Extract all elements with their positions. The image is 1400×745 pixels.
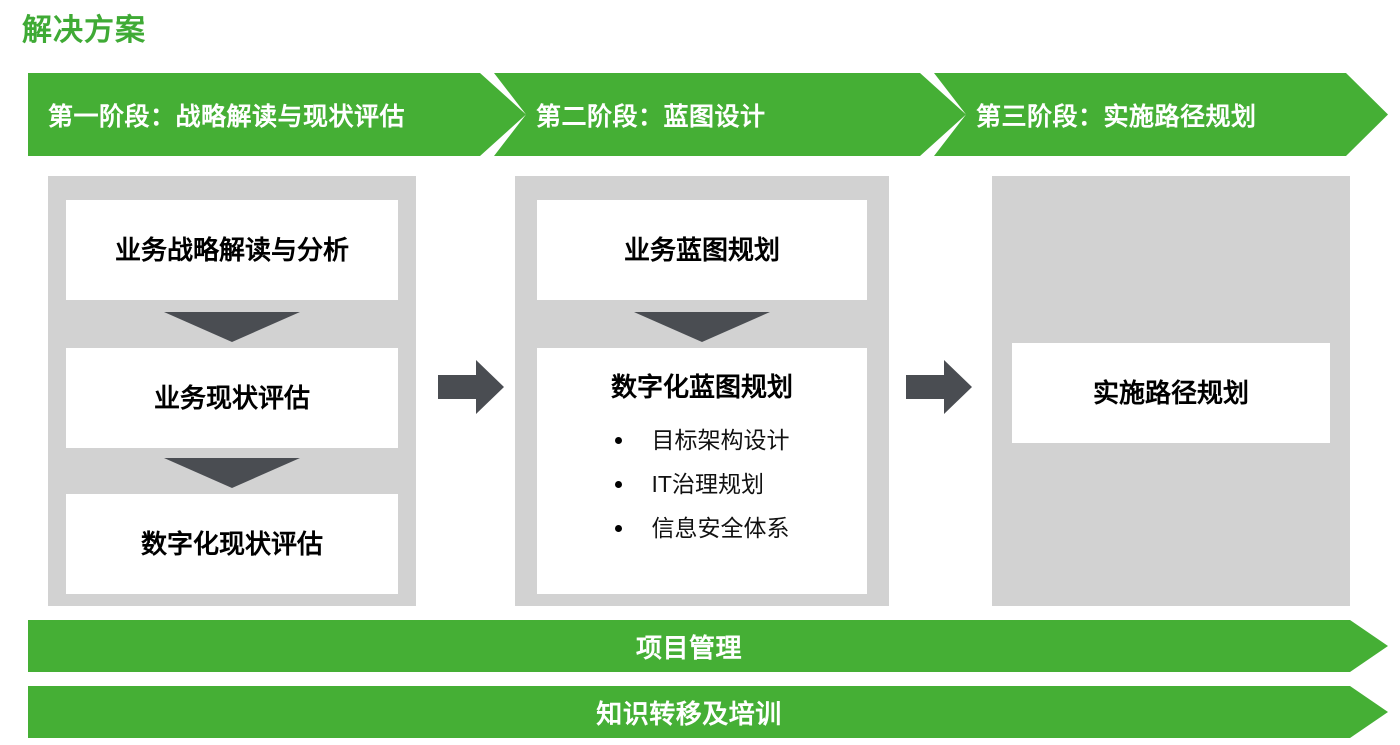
arrow-down-2-icon (164, 458, 300, 488)
phase-3-panel: 实施路径规划 (992, 176, 1350, 606)
node-box-implementation-roadmap[interactable]: 实施路径规划 (1012, 343, 1330, 443)
list-item[interactable]: IT治理规划 (615, 462, 790, 506)
node-box-business-assessment[interactable]: 业务现状评估 (66, 348, 398, 448)
list-item-label: 信息安全体系 (652, 506, 790, 550)
node-title: 业务蓝图规划 (624, 233, 780, 267)
node-title: 数字化现状评估 (141, 527, 323, 561)
phase-1-panel: 业务战略解读与分析 业务现状评估 数字化现状评估 (48, 176, 416, 606)
node-title: 业务现状评估 (154, 381, 310, 415)
phase-2-panel: 业务蓝图规划 数字化蓝图规划 目标架构设计 IT治理规划 信息安全体系 (515, 176, 889, 606)
phase-band: 第一阶段：战略解读与现状评估 第二阶段：蓝图设计 第三阶段：实施路径规划 (28, 73, 1388, 156)
bottom-bar-label: 知识转移及培训 (596, 694, 782, 731)
list-item[interactable]: 目标架构设计 (615, 418, 790, 462)
node-box-digital-assessment[interactable]: 数字化现状评估 (66, 494, 398, 594)
flow-arrow-1-icon (438, 358, 504, 416)
node-box-business-strategy[interactable]: 业务战略解读与分析 (66, 200, 398, 300)
list-item[interactable]: 信息安全体系 (615, 506, 790, 550)
bottom-bar-label: 项目管理 (636, 628, 742, 665)
node-title: 业务战略解读与分析 (115, 233, 349, 267)
phase-chevron-3[interactable]: 第三阶段：实施路径规划 (948, 73, 1388, 156)
list-item-label: 目标架构设计 (652, 418, 790, 462)
flow-arrow-2-icon (906, 358, 972, 416)
list-item-label: IT治理规划 (652, 462, 764, 506)
bullet-dot-icon (615, 525, 622, 532)
phase-label-3: 第三阶段：实施路径规划 (976, 97, 1257, 133)
bullet-dot-icon (615, 437, 622, 444)
flow-arrow-2-svg (906, 358, 972, 416)
phase-chevron-2[interactable]: 第二阶段：蓝图设计 (508, 73, 948, 156)
node-title: 实施路径规划 (1093, 376, 1249, 410)
node-title: 数字化蓝图规划 (611, 370, 793, 404)
bottom-bar-knowledge-transfer[interactable]: 知识转移及培训 (28, 686, 1388, 738)
phase-chevron-1[interactable]: 第一阶段：战略解读与现状评估 (28, 73, 508, 156)
node-box-digital-blueprint[interactable]: 数字化蓝图规划 目标架构设计 IT治理规划 信息安全体系 (537, 348, 867, 594)
arrow-down-1-icon (164, 312, 300, 342)
flow-arrow-1-svg (438, 358, 504, 416)
phase-label-2: 第二阶段：蓝图设计 (536, 97, 766, 133)
node-box-business-blueprint[interactable]: 业务蓝图规划 (537, 200, 867, 300)
page-title: 解决方案 (22, 11, 146, 51)
bottom-bar-project-management[interactable]: 项目管理 (28, 620, 1388, 672)
arrow-down-3-icon (634, 312, 770, 342)
digital-blueprint-bullet-list: 目标架构设计 IT治理规划 信息安全体系 (615, 418, 790, 550)
bullet-dot-icon (615, 481, 622, 488)
phase-label-1: 第一阶段：战略解读与现状评估 (48, 97, 405, 133)
